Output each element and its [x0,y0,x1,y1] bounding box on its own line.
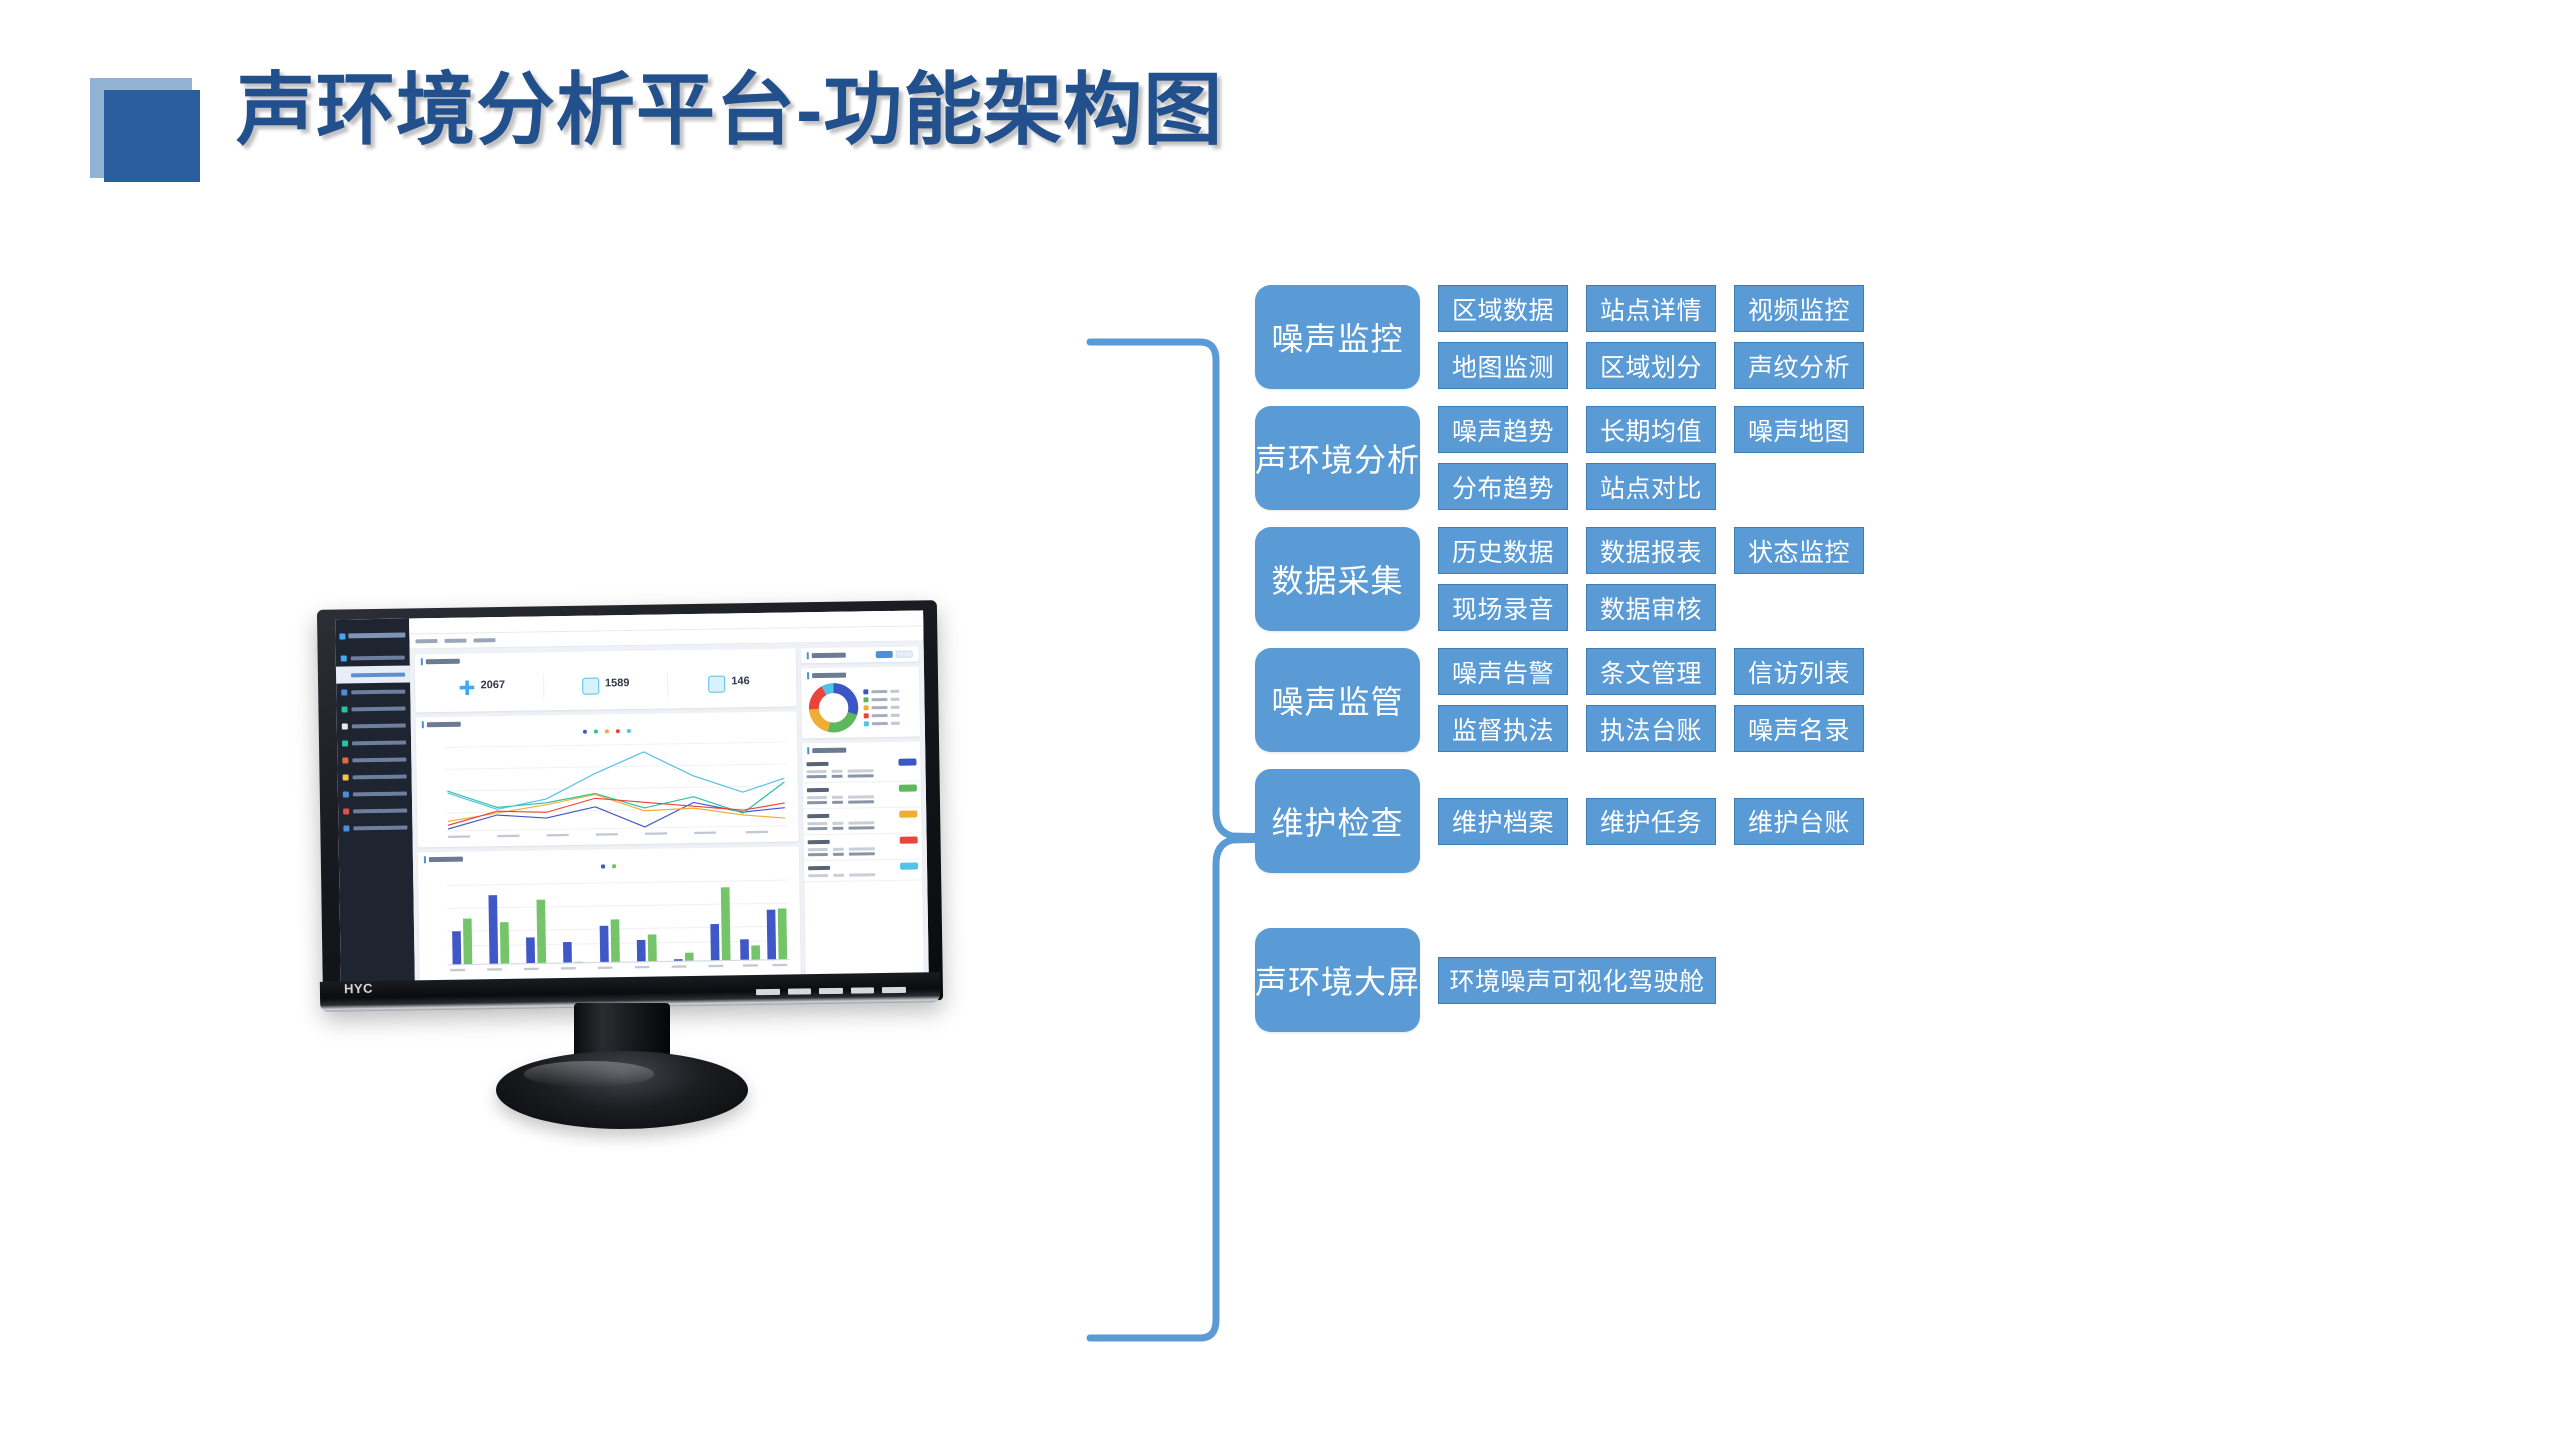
feature-box[interactable]: 区域数据 [1438,285,1568,332]
category-box-acoustic-analysis[interactable]: 声环境分析 [1255,406,1420,510]
feature-box[interactable]: 状态监控 [1734,527,1864,574]
nav-icon [342,757,348,763]
architecture-row: 维护检查 维护档案 维护任务 维护台账 [1255,769,2455,873]
alarm-header [808,837,918,846]
nav-label [353,808,407,813]
feature-row: 区域数据 站点详情 视频监控 [1438,285,1864,332]
legend-entry [864,712,900,718]
alarm-item [803,807,921,835]
kpi-text: 1589 [605,673,630,698]
kpi-label [731,691,749,696]
monitor-brand-label: HYC [344,981,373,996]
feature-box-dashboard[interactable]: 环境噪声可视化驾驶舱 [1438,957,1716,1004]
feature-box[interactable]: 条文管理 [1586,648,1716,695]
alarm-title [806,761,828,765]
legend-value [890,689,899,692]
kpi-label [481,694,506,699]
architecture-row: 声环境大屏 环境噪声可视化驾驶舱 [1255,928,2455,1032]
alarm-meta [807,769,917,774]
alarm-header [808,863,918,872]
header-label [427,722,461,728]
dashboard-preview: 2067 1589 [335,610,929,987]
nav-item [336,682,410,700]
header-label [812,673,846,679]
alarm-header [807,785,917,794]
card-header [807,652,846,660]
feature-row: 分布趋势 站点对比 [1438,463,1864,510]
donut-chart-svg [807,681,860,734]
nav-label [352,706,406,711]
nav-label [351,655,405,660]
header-label [812,653,846,659]
feature-box[interactable]: 站点对比 [1586,463,1716,510]
header-marker [422,721,424,728]
legend-value [890,697,899,700]
legend-swatch [582,730,586,734]
legend-entry [863,688,899,694]
plus-icon [460,680,475,695]
legend-label [872,713,888,716]
nav-item [337,733,411,751]
header-marker [421,658,423,665]
nav-label [351,672,405,677]
legend-value [891,705,900,708]
feature-box[interactable]: 噪声告警 [1438,648,1568,695]
logo-text-placeholder [348,633,405,639]
feature-row: 噪声趋势 长期均值 噪声地图 [1438,406,1864,453]
alarm-values [807,774,917,779]
nav-item [336,699,410,717]
nav-label [353,825,407,830]
category-box-data-collection[interactable]: 数据采集 [1255,527,1420,631]
legend-swatch [593,730,597,734]
alarm-title [808,839,830,843]
shield-icon [708,675,725,692]
kpi-label [605,693,630,698]
tab-placeholder [415,639,437,643]
nav-label [353,791,407,796]
legend-label [871,689,887,692]
shield-icon [582,677,599,694]
bar-chart-svg [424,867,795,977]
kpi-text: 2067 [480,674,505,699]
legend-swatch [863,689,868,694]
alarm-meta [808,873,918,878]
filter-card [801,646,919,663]
kpi-value: 1589 [605,677,630,689]
alarm-values [807,800,917,805]
feature-grid: 噪声趋势 长期均值 噪声地图 分布趋势 站点对比 [1438,406,1864,510]
status-badge [900,863,918,870]
product-monitor-image: 2067 1589 [300,605,940,1125]
nav-item-selected [336,665,410,683]
architecture-row: 声环境分析 噪声趋势 长期均值 噪声地图 分布趋势 站点对比 [1255,406,2455,510]
legend-swatch [864,705,869,710]
donut-chart-card [801,666,920,738]
toggle-button [896,651,913,658]
feature-row: 噪声告警 条文管理 信访列表 [1438,648,1864,695]
legend-swatch [864,713,869,718]
category-box-noise-supervision[interactable]: 噪声监管 [1255,648,1420,752]
nav-icon [343,825,349,831]
line-chart-svg [422,732,793,842]
tab-placeholder [444,639,466,643]
feature-box[interactable]: 区域划分 [1586,342,1716,389]
nav-icon [341,689,347,695]
legend-entry [863,696,899,702]
nav-label [352,723,406,728]
architecture-diagram: 噪声监控 区域数据 站点详情 视频监控 地图监测 区域划分 声纹分析 声环境分析… [1255,285,2455,1044]
legend-swatch [612,864,616,868]
legend-swatch [601,864,605,868]
architecture-row: 噪声监控 区域数据 站点详情 视频监控 地图监测 区域划分 声纹分析 [1255,285,2455,389]
legend-swatch [615,729,619,733]
feature-box[interactable]: 噪声名录 [1734,705,1864,752]
nav-label [352,740,406,745]
feature-box[interactable]: 信访列表 [1734,648,1864,695]
feature-grid: 环境噪声可视化驾驶舱 [1438,957,1716,1004]
nav-icon [342,706,348,712]
nav-item [338,784,412,802]
nav-icon [341,672,347,678]
header-label [429,856,463,862]
kpi-value: 2067 [481,678,506,690]
nav-icon [342,723,348,729]
alarm-meta [807,821,917,826]
feature-row: 现场录音 数据审核 [1438,584,1864,631]
line-chart-card [416,711,799,846]
category-box-maintenance-inspection[interactable]: 维护检查 [1255,769,1420,873]
nav-icon [343,774,349,780]
nav-icon [342,740,348,746]
feature-box[interactable]: 执法台账 [1586,705,1716,752]
kpi-text: 146 [731,671,750,696]
feature-box[interactable]: 视频监控 [1734,285,1864,332]
nav-icon [343,808,349,814]
status-badge [899,785,917,792]
dashboard-left-column: 2067 1589 [415,648,801,981]
kpi-stat: 1589 [544,672,668,699]
legend-entry [626,729,630,733]
feature-box[interactable]: 现场录音 [1438,584,1568,631]
nav-item [338,801,412,819]
feature-box[interactable]: 历史数据 [1438,527,1568,574]
feature-box[interactable]: 维护档案 [1438,798,1568,845]
nav-item [337,767,411,785]
monitor-screen: 2067 1589 [335,610,929,987]
dashboard-right-column [801,646,924,975]
dashboard-sidebar [335,618,415,987]
alarm-item [802,755,920,783]
dashboard-nav [336,648,413,836]
dashboard-body: 2067 1589 [410,641,929,986]
alarm-meta [808,847,918,852]
feature-grid: 维护档案 维护任务 维护台账 [1438,798,1864,845]
alarm-item [804,859,922,882]
alarm-header [807,811,917,820]
header-marker [807,652,809,659]
feature-row: 地图监测 区域划分 声纹分析 [1438,342,1864,389]
dashboard-main: 2067 1589 [409,610,929,986]
header-label [426,659,460,665]
monitor-base-highlight [524,1061,654,1087]
alarm-title [808,865,830,869]
tab-placeholder [473,638,495,642]
legend-entry [615,729,619,733]
alarm-list-card [802,741,924,975]
feature-box[interactable]: 分布趋势 [1438,463,1568,510]
feature-box[interactable]: 噪声地图 [1734,406,1864,453]
status-badge [900,837,918,844]
kpi-stats: 2067 1589 [421,663,791,709]
architecture-row: 数据采集 历史数据 数据报表 状态监控 现场录音 数据审核 [1255,527,2455,631]
legend-swatch [863,697,868,702]
legend-label [871,697,887,700]
logo-mark-icon [339,633,345,639]
nav-item [336,648,410,666]
header-marker [424,856,426,863]
kpi-stat: 146 [668,670,791,697]
nav-label [352,757,406,762]
page-title: 声环境分析平台-功能架构图 [236,62,1223,158]
header-marker [807,747,809,754]
header-label [812,748,846,754]
feature-box[interactable]: 长期均值 [1586,406,1716,453]
feature-row: 环境噪声可视化驾驶舱 [1438,957,1716,1004]
nav-item [338,818,412,836]
legend-label [872,721,888,724]
legend-value [891,721,900,724]
feature-box[interactable]: 数据审核 [1586,584,1716,631]
category-box-noise-monitoring[interactable]: 噪声监控 [1255,285,1420,389]
status-badge [898,759,916,766]
feature-box[interactable]: 地图监测 [1438,342,1568,389]
feature-box[interactable]: 维护任务 [1586,798,1716,845]
card-header [802,745,920,754]
legend-swatch [864,721,869,726]
nav-item [337,750,411,768]
architecture-row: 噪声监管 噪声告警 条文管理 信访列表 监督执法 执法台账 噪声名录 [1255,648,2455,752]
kpi-value: 146 [731,675,750,687]
legend-swatch [626,729,630,733]
alarm-meta [807,795,917,800]
alarm-item [803,781,921,809]
feature-box[interactable]: 站点详情 [1586,285,1716,332]
legend-entry [601,864,605,868]
feature-box[interactable]: 声纹分析 [1734,342,1864,389]
feature-grid: 历史数据 数据报表 状态监控 现场录音 数据审核 [1438,527,1864,631]
legend-label [872,705,888,708]
alarm-header [806,759,916,768]
feature-box[interactable]: 数据报表 [1586,527,1716,574]
feature-row: 维护档案 维护任务 维护台账 [1438,798,1864,845]
alarm-title [807,787,829,791]
nav-label [353,774,407,779]
alarm-title [807,813,829,817]
category-box-acoustic-bigscreen[interactable]: 声环境大屏 [1255,928,1420,1032]
kpi-card: 2067 1589 [415,648,797,712]
alarm-values [808,852,918,857]
toggle-button-active [876,651,893,658]
legend-entry [604,729,608,733]
nav-label [351,689,405,694]
status-badge [899,811,917,818]
title-bar: 声环境分析平台-功能架构图 [0,0,2560,230]
legend-entry [864,720,900,726]
nav-icon [343,791,349,797]
header-marker [807,672,809,679]
kpi-stat: 2067 [421,674,545,701]
bar-chart-card [418,846,801,981]
legend-value [891,713,900,716]
nav-item [337,716,411,734]
legend-entry [582,730,586,734]
legend-entry [612,864,616,868]
legend-entry [864,704,900,710]
feature-box[interactable]: 噪声趋势 [1438,406,1568,453]
alarm-item [804,833,922,861]
bar-chart-plot [424,867,795,977]
legend-entry [593,730,597,734]
feature-box[interactable]: 监督执法 [1438,705,1568,752]
legend-swatch [604,729,608,733]
card-header [807,671,913,680]
feature-grid: 噪声告警 条文管理 信访列表 监督执法 执法台账 噪声名录 [1438,648,1864,752]
feature-grid: 区域数据 站点详情 视频监控 地图监测 区域划分 声纹分析 [1438,285,1864,389]
nav-icon [341,655,347,661]
feature-row: 监督执法 执法台账 噪声名录 [1438,705,1864,752]
dashboard-logo [339,627,405,645]
donut-wrap [807,681,914,735]
feature-box[interactable]: 维护台账 [1734,798,1864,845]
line-chart-plot [422,732,793,842]
alarm-values [807,826,917,831]
donut-legend [863,688,900,726]
feature-row: 历史数据 数据报表 状态监控 [1438,527,1864,574]
title-decoration-square-front [104,90,200,182]
